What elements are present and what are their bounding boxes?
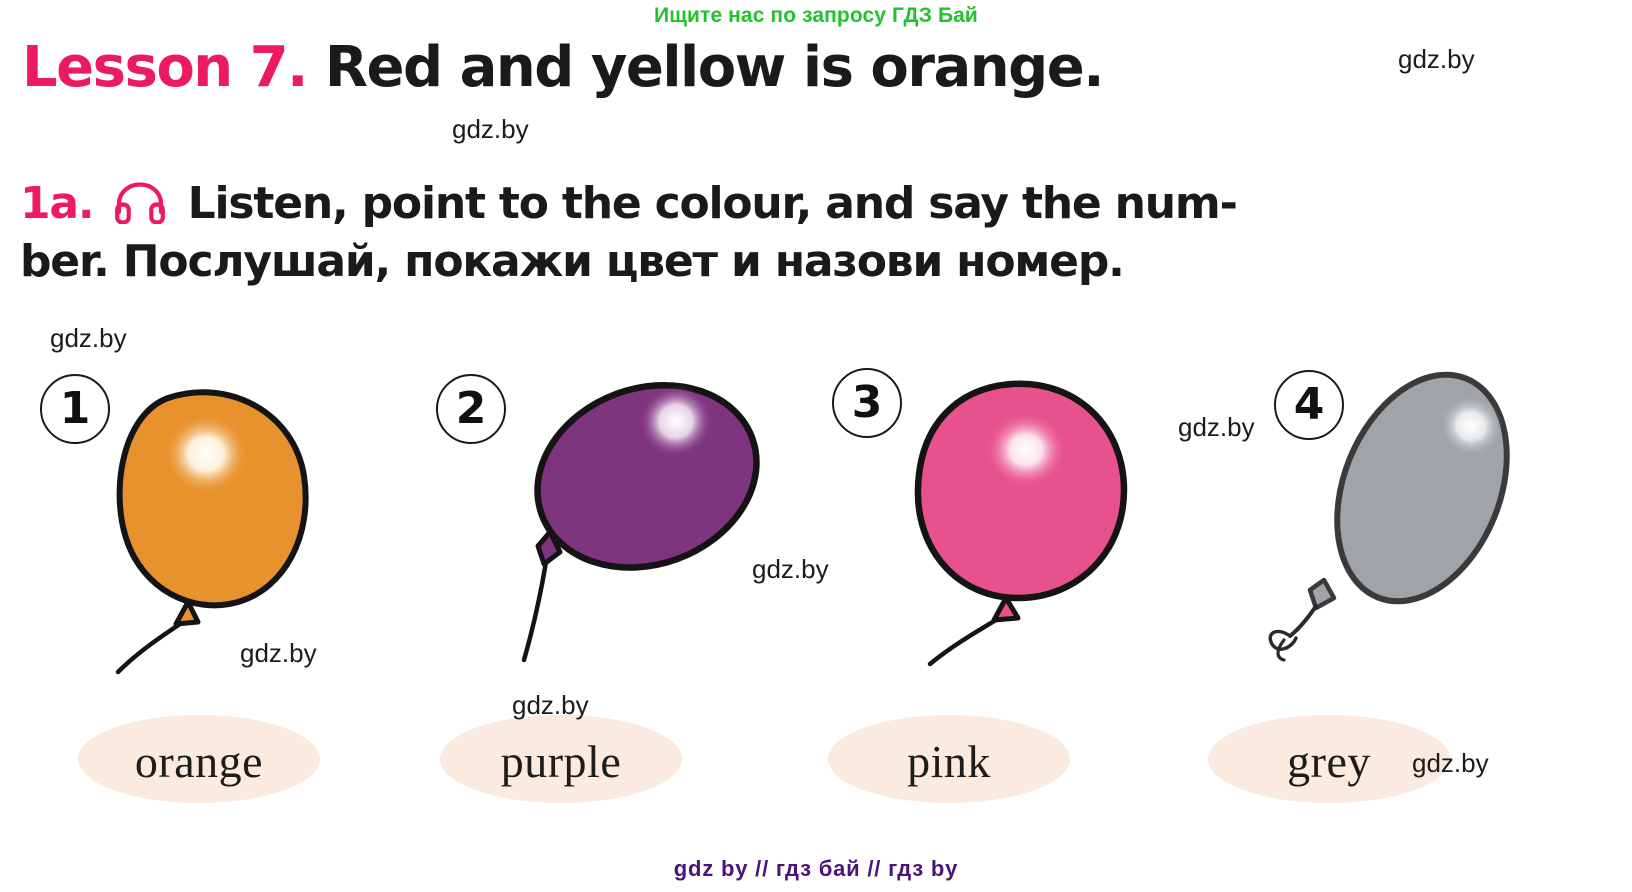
watermark-text: gdz.by [512, 692, 589, 718]
watermark-text: gdz.by [1412, 750, 1489, 776]
colour-word-chip-purple[interactable]: purple [440, 715, 682, 803]
page-title: Lesson 7. Red and yellow is orange. [22, 40, 1103, 96]
balloon-graphic-purple [498, 370, 788, 670]
promo-banner-text: Ищите нас по запросу ГДЗ Бай [0, 4, 1632, 28]
watermark-text: gdz.by [1398, 46, 1475, 72]
balloon-graphic-pink [886, 372, 1166, 672]
balloon-item-4[interactable]: 4 [1198, 362, 1590, 682]
task-text-line-2: ber. Послушай, покажи цвет и назови номе… [20, 236, 1620, 288]
colour-word-label-orange: orange [135, 739, 263, 785]
balloon-item-1[interactable]: 1 [10, 362, 402, 682]
headphones-icon [114, 182, 166, 236]
balloon-graphic-grey [1262, 368, 1562, 668]
colour-word-label-purple: purple [501, 739, 622, 785]
lesson-title-label: Red and yellow is orange. [325, 35, 1103, 100]
colour-word-label-grey: grey [1287, 739, 1371, 785]
balloon-item-2[interactable]: 2 [406, 362, 798, 682]
watermark-text: gdz.by [240, 640, 317, 666]
lesson-number-label: Lesson 7. [22, 35, 307, 100]
colour-words-row: orange purple pink grey [0, 715, 1632, 820]
colour-word-label-pink: pink [907, 739, 991, 785]
balloon-number-badge-2: 2 [436, 374, 506, 444]
watermark-text: gdz.by [452, 116, 529, 142]
task-text-line-1: Listen, point to the colour, and say the… [188, 178, 1237, 229]
colour-word-chip-pink[interactable]: pink [828, 715, 1070, 803]
colour-word-chip-orange[interactable]: orange [78, 715, 320, 803]
task-instructions: 1a. Listen, point to the colour, and say… [20, 178, 1620, 288]
watermark-text: gdz.by [50, 325, 127, 351]
task-number-label: 1a. [20, 178, 93, 229]
balloon-item-3[interactable]: 3 [802, 362, 1194, 682]
watermark-text: gdz.by [752, 556, 829, 582]
watermark-text: gdz.by [1178, 414, 1255, 440]
footer-credit-text: gdz by // гдз бай // гдз by [0, 856, 1632, 882]
balloons-row: 1 2 [0, 362, 1632, 682]
task-line-1: 1a. Listen, point to the colour, and say… [20, 178, 1620, 236]
balloon-graphic-orange [80, 384, 360, 679]
